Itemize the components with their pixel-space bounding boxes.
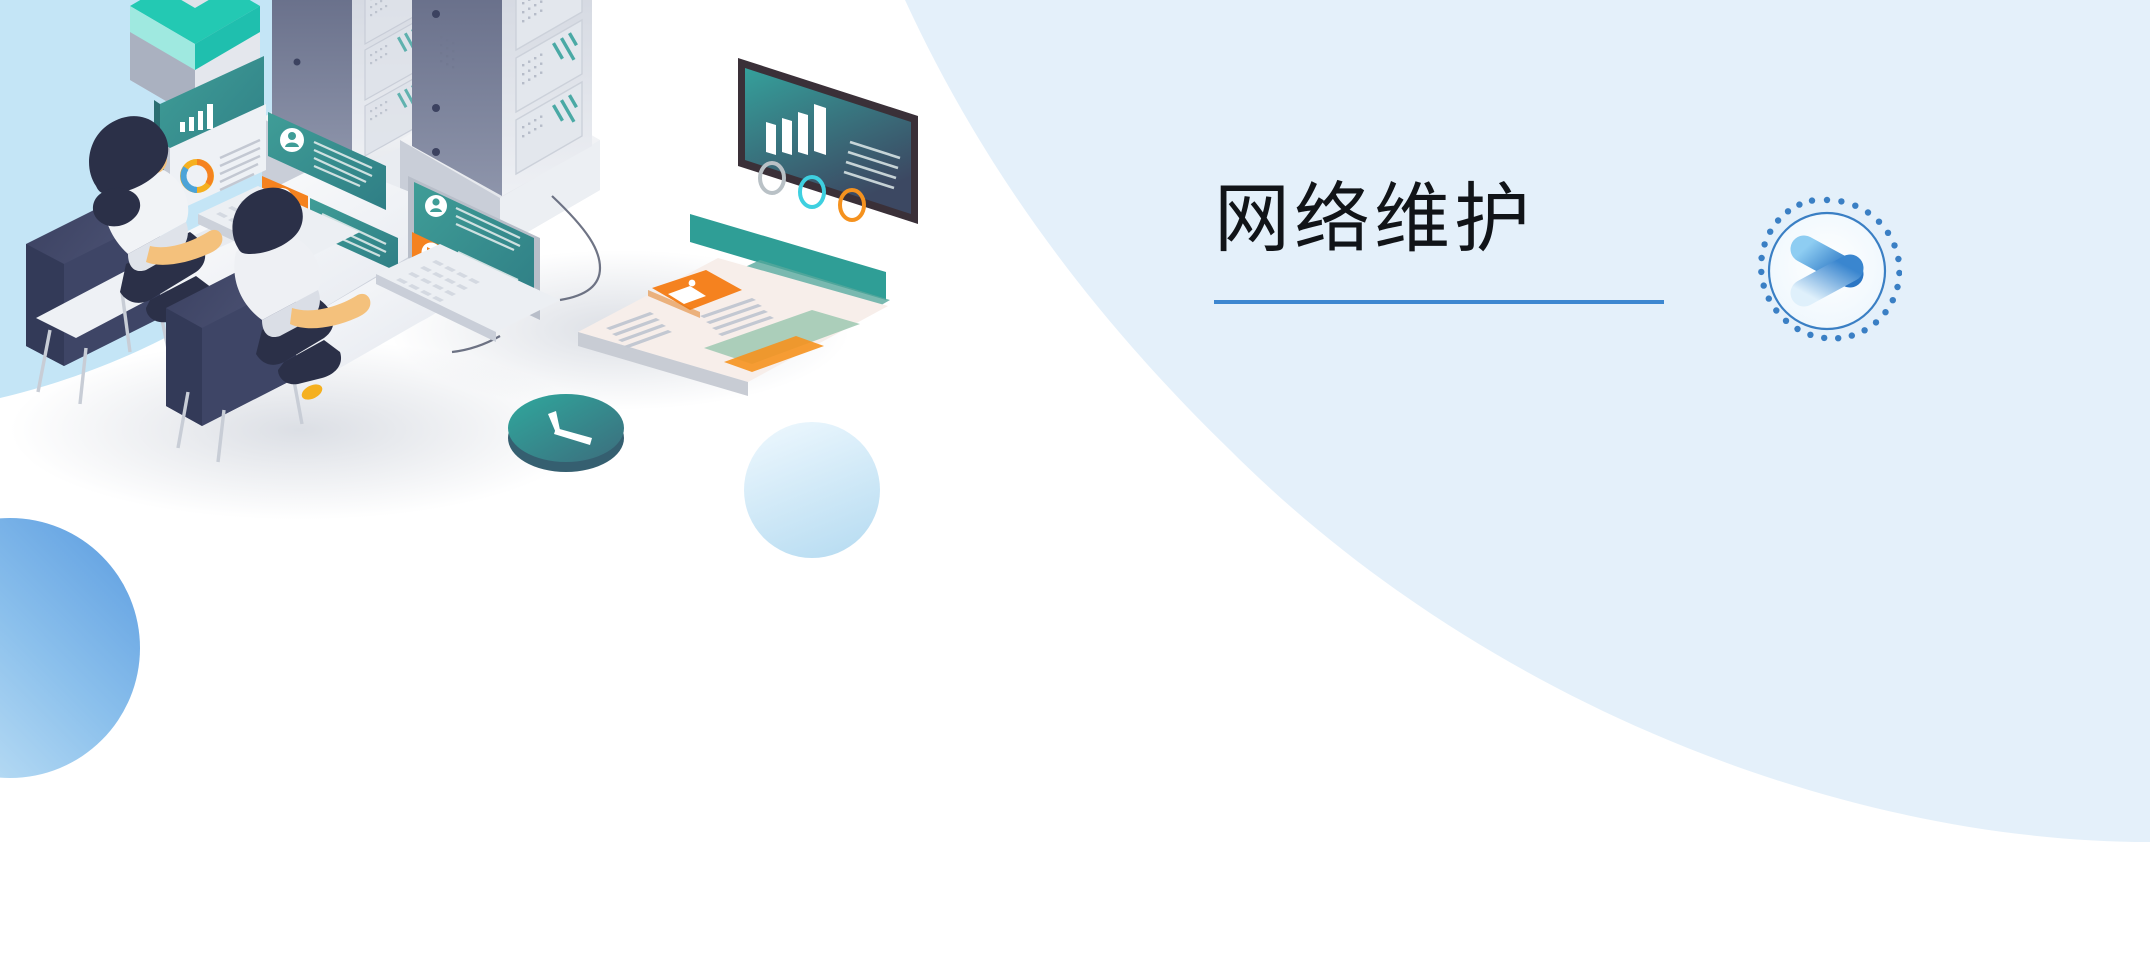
server-led [432,148,440,156]
banner-root: 网络维护 [0,0,2150,956]
clock-disc [508,394,624,472]
tablet-analytics [736,58,922,224]
illustration-network-operations [0,0,2150,956]
server-led [432,10,440,18]
heading-block: 网络维护 [1214,175,1664,304]
page-title: 网络维护 [1214,175,1664,262]
user-avatar-icon [280,128,304,152]
user-avatar-icon [425,195,447,217]
chevron-play-mark[interactable] [1752,196,1902,346]
title-underline [1214,300,1664,304]
server-led [432,104,440,112]
server-led [294,59,301,66]
